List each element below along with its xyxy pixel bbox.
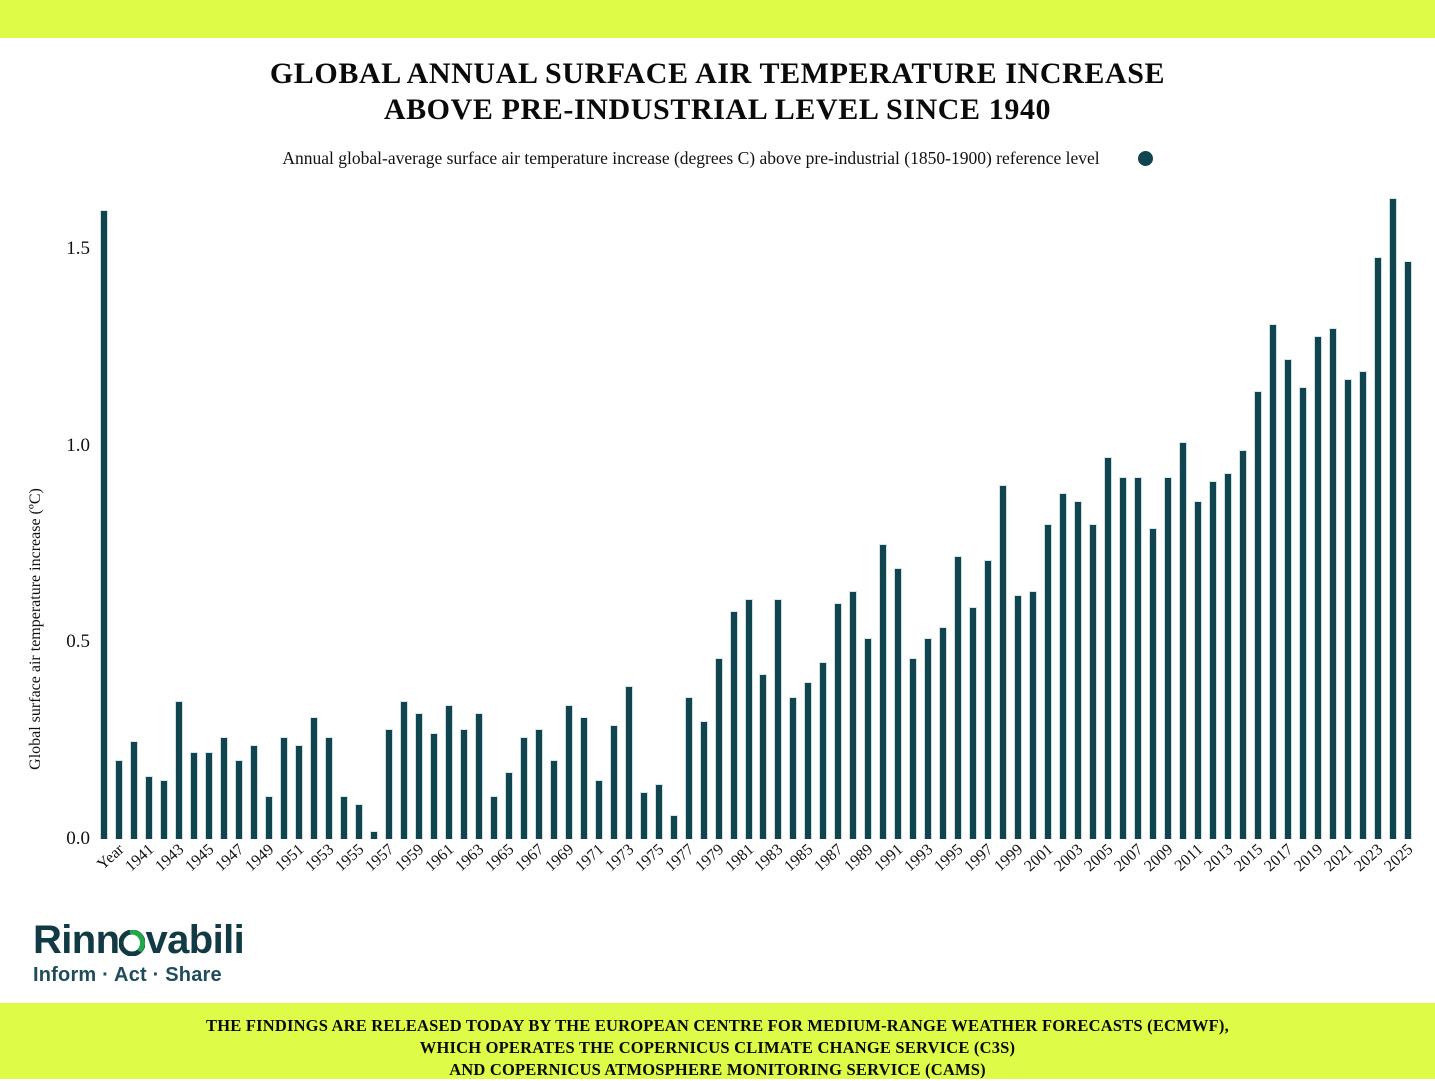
- bar: [1029, 591, 1037, 839]
- x-axis-tick-label: 1941: [123, 841, 159, 876]
- bar: [145, 776, 153, 839]
- bar: [130, 741, 138, 839]
- bar: [520, 737, 528, 839]
- bar: [355, 804, 363, 839]
- bar: [909, 658, 917, 839]
- bar: [1014, 595, 1022, 839]
- y-axis-tick-label: 1.0: [66, 435, 90, 457]
- x-axis-tick-label: 2005: [1081, 841, 1117, 876]
- bar: [1209, 481, 1217, 839]
- footer-banner: THE FINDINGS ARE RELEASED TODAY BY THE E…: [0, 1003, 1435, 1079]
- chart-title: GLOBAL ANNUAL SURFACE AIR TEMPERATURE IN…: [0, 56, 1435, 128]
- x-axis-tick-label: 1979: [692, 841, 728, 876]
- title-line-1: GLOBAL ANNUAL SURFACE AIR TEMPERATURE IN…: [0, 56, 1435, 92]
- bar: [640, 792, 648, 839]
- bar: [1044, 524, 1052, 839]
- bar: [1134, 477, 1142, 839]
- chart-legend: Annual global-average surface air temper…: [0, 148, 1435, 169]
- x-axis-tick-label: 2009: [1141, 841, 1177, 876]
- x-axis-tick-label: 1973: [602, 841, 638, 876]
- y-axis-tick-label: 0.5: [66, 631, 90, 653]
- bar: [430, 733, 438, 839]
- bar: [295, 745, 303, 839]
- bar-chart-plot-area: [97, 190, 1415, 839]
- bar: [1239, 450, 1247, 839]
- bar: [265, 796, 273, 839]
- x-axis-tick-label: 2013: [1201, 841, 1237, 876]
- logo-tagline: Inform · Act · Share: [33, 964, 333, 987]
- bar: [535, 729, 543, 839]
- x-axis-tick-label: 1955: [332, 841, 368, 876]
- bar: [1374, 257, 1382, 839]
- bar: [325, 737, 333, 839]
- x-axis-tick-label: 1959: [392, 841, 428, 876]
- bar: [759, 674, 767, 839]
- x-axis-ticks: Year194119431945194719491951195319551957…: [97, 841, 1427, 916]
- bar: [340, 796, 348, 839]
- x-axis-tick-label: 2003: [1051, 841, 1087, 876]
- x-axis-tick-label: 1957: [362, 841, 398, 876]
- x-axis-tick-label: 2011: [1172, 841, 1207, 875]
- bar: [595, 780, 603, 839]
- bar: [400, 701, 408, 839]
- x-axis-tick-label: 2023: [1351, 841, 1387, 876]
- x-axis-tick-label: 1991: [872, 841, 908, 876]
- x-axis-tick-label: 1985: [782, 841, 818, 876]
- x-axis-tick-label: 1993: [901, 841, 937, 876]
- title-line-2: ABOVE PRE-INDUSTRIAL LEVEL SINCE 1940: [0, 92, 1435, 128]
- top-accent-bar: [0, 0, 1435, 38]
- bar: [385, 729, 393, 839]
- bar: [894, 568, 902, 839]
- x-axis-tick-label: 1975: [632, 841, 668, 876]
- bar: [834, 603, 842, 839]
- bar: [730, 611, 738, 839]
- bar: [789, 697, 797, 839]
- y-axis-tick-label: 1.5: [66, 238, 90, 260]
- bar: [100, 210, 108, 839]
- x-axis-tick-label: 1969: [542, 841, 578, 876]
- bar: [999, 485, 1007, 839]
- x-axis-tick-label: 2007: [1111, 841, 1147, 876]
- x-axis-tick-label: 2001: [1021, 841, 1057, 876]
- x-axis-tick-label: 2021: [1321, 841, 1357, 876]
- x-axis-tick-label: 1963: [452, 841, 488, 876]
- x-axis-tick-label: 1981: [722, 841, 758, 876]
- x-axis-tick-label: 1953: [302, 841, 338, 876]
- bar: [864, 638, 872, 839]
- x-axis-tick-label: 1987: [812, 841, 848, 876]
- bar: [235, 760, 243, 839]
- x-axis-tick-label: 2017: [1261, 841, 1297, 876]
- bar: [460, 729, 468, 839]
- x-axis-tick-label: 2019: [1291, 841, 1327, 876]
- bar: [1359, 371, 1367, 839]
- bar: [1149, 528, 1157, 839]
- bar: [700, 721, 708, 839]
- bar: [1089, 524, 1097, 839]
- x-axis-tick-label: Year: [95, 841, 129, 874]
- bar: [625, 686, 633, 839]
- bar: [370, 831, 378, 839]
- bar: [1254, 391, 1262, 839]
- bar: [1269, 324, 1277, 839]
- bar: [1314, 336, 1322, 839]
- bar: [1344, 379, 1352, 839]
- bar: [1329, 328, 1337, 839]
- x-axis-tick-label: 1971: [572, 841, 608, 876]
- bar: [954, 556, 962, 839]
- bar: [220, 737, 228, 839]
- bar: [580, 717, 588, 839]
- bar: [1389, 198, 1397, 839]
- x-axis-tick-label: 1945: [183, 841, 219, 876]
- x-axis-tick-label: 1983: [752, 841, 788, 876]
- bar: [475, 713, 483, 839]
- x-axis-tick-label: 2025: [1381, 841, 1417, 876]
- bar: [415, 713, 423, 839]
- bar: [1104, 457, 1112, 839]
- bar: [715, 658, 723, 839]
- x-axis-tick-label: 1967: [512, 841, 548, 876]
- bar: [774, 599, 782, 839]
- bar: [490, 796, 498, 839]
- y-axis-tick-label: 0.0: [66, 828, 90, 850]
- filled-circle-marker-icon: [1138, 151, 1153, 166]
- bar: [445, 705, 453, 839]
- bar: [175, 701, 183, 839]
- x-axis-tick-label: 1999: [991, 841, 1027, 876]
- footer-line-3: AND COPERNICUS ATMOSPHERE MONITORING SER…: [0, 1059, 1435, 1081]
- bar: [1284, 359, 1292, 839]
- legend-label: Annual global-average surface air temper…: [282, 148, 1099, 169]
- brand-logo: Rinnvabili Inform · Act · Share: [33, 918, 333, 994]
- bar: [804, 682, 812, 839]
- x-axis-tick-label: 1977: [662, 841, 698, 876]
- x-axis-tick-label: 1961: [422, 841, 458, 876]
- logo-green-o-icon: [119, 921, 145, 947]
- bar: [310, 717, 318, 839]
- x-axis-tick-label: 1949: [242, 841, 278, 876]
- x-axis-tick-label: 1951: [272, 841, 308, 876]
- x-axis-tick-label: 1947: [213, 841, 249, 876]
- bar: [1074, 501, 1082, 839]
- bar: [190, 752, 198, 839]
- bar: [879, 544, 887, 839]
- bar: [984, 560, 992, 839]
- bar: [565, 705, 573, 839]
- bar: [160, 780, 168, 839]
- bar: [1194, 501, 1202, 839]
- bar: [505, 772, 513, 839]
- bar: [1119, 477, 1127, 839]
- bar: [849, 591, 857, 839]
- y-axis-ticks: 0.00.51.01.5: [42, 190, 90, 839]
- logo-wordmark: Rinnvabili: [33, 918, 244, 962]
- bar: [685, 697, 693, 839]
- bar: [745, 599, 753, 839]
- bar: [1224, 473, 1232, 839]
- bar: [550, 760, 558, 839]
- bar: [924, 638, 932, 839]
- x-axis-tick-label: 1997: [961, 841, 997, 876]
- bar: [1404, 261, 1412, 839]
- bar: [280, 737, 288, 839]
- x-axis-tick-label: 1943: [153, 841, 189, 876]
- bar: [1164, 477, 1172, 839]
- bar: [1059, 493, 1067, 839]
- bar: [115, 760, 123, 839]
- x-axis-tick-label: 1995: [931, 841, 967, 876]
- bar: [205, 752, 213, 839]
- bar: [670, 815, 678, 839]
- bar: [610, 725, 618, 839]
- x-axis-tick-label: 2015: [1231, 841, 1267, 876]
- bar: [655, 784, 663, 839]
- logo-text-part2: vabili: [145, 918, 244, 962]
- logo-text-part1: Rinn: [33, 918, 119, 962]
- bar: [939, 627, 947, 839]
- bar: [819, 662, 827, 839]
- x-axis-tick-label: 1989: [842, 841, 878, 876]
- footer-line-1: THE FINDINGS ARE RELEASED TODAY BY THE E…: [0, 1015, 1435, 1037]
- footer-line-2: WHICH OPERATES THE COPERNICUS CLIMATE CH…: [0, 1037, 1435, 1059]
- bar: [250, 745, 258, 839]
- bar: [1179, 442, 1187, 839]
- x-axis-tick-label: 1965: [482, 841, 518, 876]
- bar: [969, 607, 977, 839]
- bar: [1299, 387, 1307, 839]
